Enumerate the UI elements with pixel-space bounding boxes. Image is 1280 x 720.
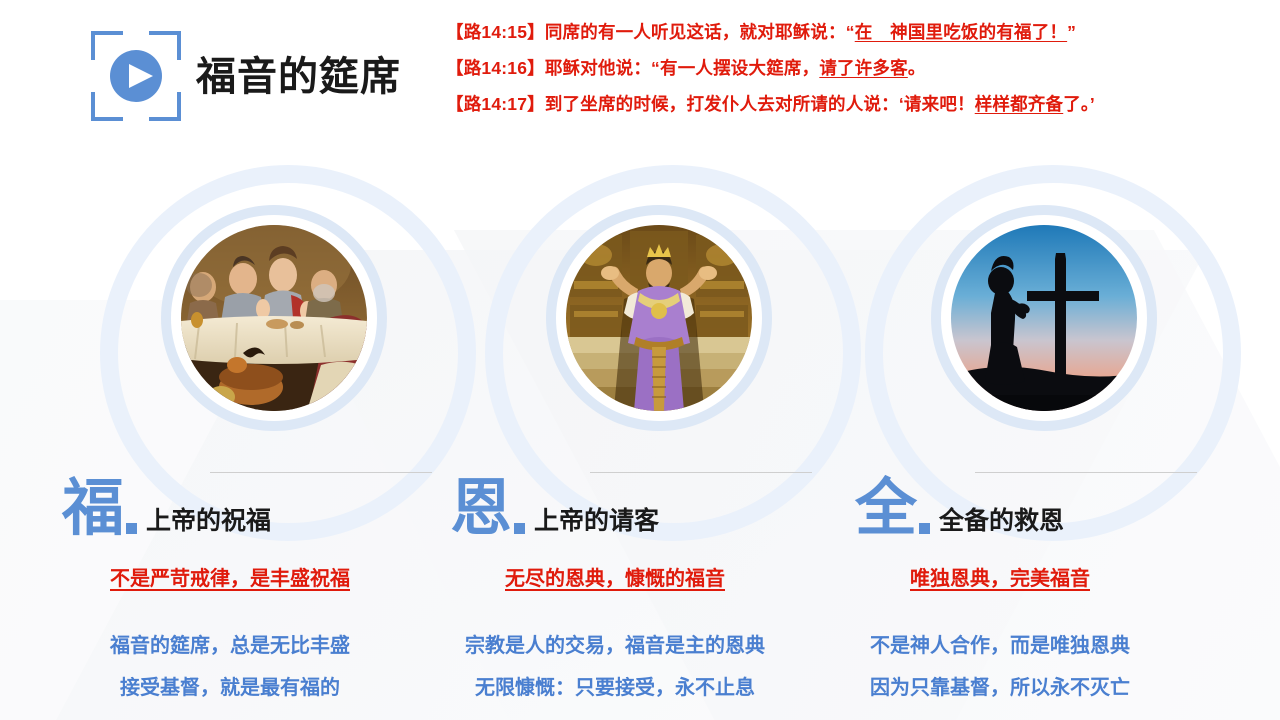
column-subtitle: 全备的救恩 <box>939 506 1064 540</box>
body-line: 不是神人合作，而是唯独恩典 <box>790 625 1210 667</box>
column-key-point: 无尽的恩典，慷慨的福音 <box>405 562 825 591</box>
praying-silhouette-cross-photo <box>951 225 1137 411</box>
accent-dot <box>514 523 525 534</box>
accent-dot <box>126 523 137 534</box>
photo-ring <box>161 205 387 431</box>
three-point-columns: 福 上帝的祝福 不是严苛戒律，是丰盛祝福 福音的筵席，总是无比丰盛 接受基督，就… <box>0 0 1280 720</box>
column-blessing: 福 上帝的祝福 不是严苛戒律，是丰盛祝福 福音的筵席，总是无比丰盛 接受基督，就… <box>20 0 440 720</box>
photo-ring <box>546 205 772 431</box>
body-line: 无限慷慨：只要接受，永不止息 <box>405 667 825 709</box>
column-salvation: 全 全备的救恩 唯独恩典，完美福音 不是神人合作，而是唯独恩典 因为只靠基督，所… <box>790 0 1210 720</box>
column-key-point: 不是严苛戒律，是丰盛祝福 <box>20 562 440 591</box>
accent-dot <box>919 523 930 534</box>
photo-ring <box>931 205 1157 431</box>
big-character: 福 <box>62 478 124 540</box>
body-line: 福音的筵席，总是无比丰盛 <box>20 625 440 667</box>
column-key-point: 唯独恩典，完美福音 <box>790 562 1210 591</box>
big-character: 全 <box>855 478 917 540</box>
column-body: 福音的筵席，总是无比丰盛 接受基督，就是最有福的 <box>20 625 440 709</box>
last-supper-painting <box>181 225 367 411</box>
big-character: 恩 <box>450 478 512 540</box>
column-heading: 福 上帝的祝福 <box>62 470 271 540</box>
body-line: 因为只靠基督，所以永不灭亡 <box>790 667 1210 709</box>
column-body: 不是神人合作，而是唯独恩典 因为只靠基督，所以永不灭亡 <box>790 625 1210 709</box>
column-heading: 恩 上帝的请客 <box>450 470 659 540</box>
slide-canvas: 福音的筵席 【路14:15】同席的有一人听见这话，就对耶稣说：“在 神国里吃饭的… <box>0 0 1280 720</box>
body-line: 宗教是人的交易，福音是主的恩典 <box>405 625 825 667</box>
column-body: 宗教是人的交易，福音是主的恩典 无限慷慨：只要接受，永不止息 <box>405 625 825 709</box>
column-subtitle: 上帝的请客 <box>534 506 659 540</box>
king-with-raised-arms-painting <box>566 225 752 411</box>
column-grace: 恩 上帝的请客 无尽的恩典，慷慨的福音 宗教是人的交易，福音是主的恩典 无限慷慨… <box>405 0 825 720</box>
column-subtitle: 上帝的祝福 <box>146 506 271 540</box>
column-heading: 全 全备的救恩 <box>855 470 1064 540</box>
body-line: 接受基督，就是最有福的 <box>20 667 440 709</box>
